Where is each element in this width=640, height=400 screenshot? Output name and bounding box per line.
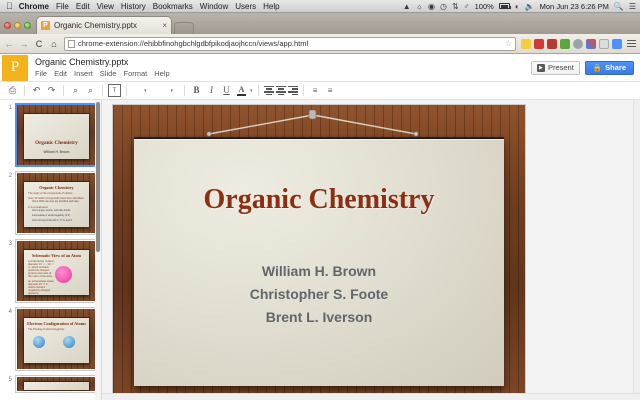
thumb-board: Electron Configuration of Atoms The Paul… [24, 317, 89, 363]
os-menu-window[interactable]: Window [200, 2, 228, 11]
star-icon[interactable]: ☆ [505, 39, 512, 48]
pdf-icon[interactable] [547, 39, 557, 49]
os-menu-app-name[interactable]: Chrome [19, 2, 49, 11]
tab-strip: P Organic Chemistry.pptx × [0, 13, 640, 34]
clock-icon[interactable]: ◷ [440, 2, 447, 11]
share-button[interactable]: 🔒 Share [585, 61, 634, 75]
slide-title[interactable]: Organic Chemistry [113, 184, 525, 216]
numbered-list-icon[interactable]: ≡ [309, 84, 322, 97]
current-slide[interactable]: Organic Chemistry William H. Brown Chris… [113, 105, 525, 400]
thumb-board: Organic Chemistry The study of the compo… [24, 181, 89, 227]
thumb-title-text: Organic Chemistry [24, 185, 89, 190]
bulleted-list-icon[interactable]: ≡ [324, 84, 337, 97]
address-bar-url: chrome-extension://ehibbfinohgbchlgdbfpi… [78, 39, 308, 48]
battery-percent-label: 100% [475, 2, 494, 11]
atom-sphere-icon [63, 336, 75, 348]
browser-nav-bar: ← → C ⌂ chrome-extension://ehibbfinohgbc… [0, 34, 640, 54]
slide-thumbnail-3[interactable]: Schematic View of an Atom a small dense … [15, 239, 98, 303]
os-menu-view[interactable]: View [97, 2, 114, 11]
thumbnail-number: 5 [6, 375, 12, 393]
font-dropdown-caret-icon[interactable]: ▾ [144, 88, 147, 94]
present-button[interactable]: ▶ Present [531, 61, 580, 75]
share-button-label: Share [605, 63, 626, 72]
thumbnail-number: 3 [6, 239, 12, 303]
align-center-icon[interactable] [276, 84, 286, 97]
toolbar-divider [102, 85, 103, 96]
toolbar-divider [63, 85, 64, 96]
atom-pair-diagram [33, 336, 75, 348]
size-dropdown-caret-icon[interactable]: ▾ [171, 88, 174, 94]
window-controls [4, 22, 31, 34]
thumbnail-number: 1 [6, 103, 12, 167]
italic-icon[interactable]: I [205, 84, 218, 97]
bookmark-icon[interactable] [521, 39, 531, 49]
author-line-1: William H. Brown [113, 260, 525, 283]
new-tab-button[interactable] [174, 22, 194, 34]
lock-icon: 🔒 [593, 63, 602, 72]
slides-app: P Organic Chemistry.pptx File Edit Inser… [0, 54, 640, 400]
hamburger-menu-icon[interactable] [627, 40, 636, 48]
forward-button[interactable]: → [19, 39, 29, 49]
author-line-3: Brent L. Iverson [113, 306, 525, 329]
tab-title: Organic Chemistry.pptx [54, 21, 158, 30]
undo-icon[interactable]: ↶ [30, 84, 43, 97]
toolbar-divider [24, 85, 25, 96]
menu-help[interactable]: Help [154, 69, 169, 78]
minimize-window-button[interactable] [14, 22, 21, 29]
home-button[interactable]: ⌂ [49, 39, 59, 49]
thumb-wood-background: Schematic View of an Atom a small dense … [17, 241, 96, 301]
text-box-icon[interactable]: T [108, 84, 121, 97]
app-menu-bar: File Edit Insert Slide Format Help [35, 69, 531, 78]
chat-icon[interactable]: ◉ [428, 2, 435, 11]
browser-tab[interactable]: P Organic Chemistry.pptx × [36, 16, 172, 34]
mail-icon[interactable] [612, 39, 622, 49]
thumb-bullet: The study of the compounds of carbon [28, 192, 89, 195]
thumbnail-row[interactable]: 4 Electron Configuration of Atoms The Pa… [6, 307, 101, 371]
canvas-horizontal-scrollbar[interactable] [102, 393, 640, 400]
toolbar-divider [303, 85, 304, 96]
os-menu-users[interactable]: Users [235, 2, 256, 11]
extension-red-icon[interactable] [534, 39, 544, 49]
reload-button[interactable]: C [34, 39, 44, 49]
toolbar-divider [126, 85, 127, 96]
thumb-board [24, 381, 89, 389]
menu-file[interactable]: File [35, 69, 47, 78]
page-info-icon[interactable] [68, 40, 75, 48]
os-menu-edit[interactable]: Edit [76, 2, 90, 11]
page-title[interactable]: Organic Chemistry.pptx [35, 57, 531, 68]
thumbnail-scrollbar-thumb[interactable] [96, 102, 100, 252]
present-button-label: Present [548, 63, 574, 72]
os-menu-help[interactable]: Help [263, 2, 279, 11]
slide-thumbnail-5[interactable] [15, 375, 98, 393]
thumb-bullet: an extranuclear space, diameter 10⁻¹⁰ m,… [28, 280, 55, 295]
menu-slide[interactable]: Slide [100, 69, 117, 78]
user-icon[interactable]: ♂ [464, 2, 470, 11]
underline-icon[interactable]: U [220, 84, 233, 97]
thumb-bullet: The Pauling of electronegativity [28, 328, 89, 331]
google-icon[interactable] [586, 39, 596, 49]
os-menu-history[interactable]: History [121, 2, 146, 11]
chrome-window: P Organic Chemistry.pptx × ← → C ⌂ chrom… [0, 13, 640, 400]
print-icon[interactable] [573, 39, 583, 49]
download-icon[interactable] [560, 39, 570, 49]
text-color-caret-icon[interactable]: ▾ [250, 88, 253, 94]
thumb-bullet: forms strong bonds with C, H, N, and O [32, 220, 89, 223]
bell-icon[interactable]: ☼ [416, 2, 423, 11]
sync-icon[interactable]: ⇅ [452, 2, 459, 11]
thumb-wood-background: Organic Chemistry William H. Brown Chris… [17, 105, 96, 165]
menu-edit[interactable]: Edit [54, 69, 67, 78]
zoom-out-icon[interactable]: ⌕ [84, 84, 97, 97]
bold-icon[interactable]: B [190, 84, 203, 97]
align-left-icon[interactable] [264, 84, 274, 97]
maximize-window-button[interactable] [24, 22, 31, 29]
os-menu-bar:  Chrome File Edit View History Bookmark… [0, 0, 640, 13]
extension-icons [521, 39, 636, 49]
play-icon: ▶ [537, 64, 545, 72]
slide-thumbnail-1[interactable]: Organic Chemistry William H. Brown Chris… [15, 103, 98, 167]
dropbox-icon[interactable]: ▲ [403, 2, 411, 11]
back-button[interactable]: ← [4, 39, 14, 49]
cast-icon[interactable] [599, 39, 609, 49]
menu-format[interactable]: Format [123, 69, 147, 78]
wifi-icon[interactable]: ◐ [515, 2, 520, 11]
tab-favicon-icon: P [41, 21, 50, 30]
slide-authors[interactable]: William H. Brown Christopher S. Foote Br… [113, 260, 525, 329]
address-bar[interactable]: chrome-extension://ehibbfinohgbchlgdbfpi… [64, 37, 516, 51]
thumbnail-scrollbar-track[interactable] [95, 100, 101, 400]
thumb-title-text: Electron Configuration of Atoms [24, 321, 89, 326]
slide-canvas[interactable]: Organic Chemistry William H. Brown Chris… [102, 100, 640, 400]
text-color-icon[interactable]: A [235, 84, 248, 97]
print-icon[interactable]: ⎙ [6, 84, 19, 97]
doc-header: Organic Chemistry.pptx File Edit Insert … [28, 57, 531, 78]
thumb-bullet: intermediate in electronegativity (2.5) [32, 215, 89, 218]
thumb-wood-background: Organic Chemistry The study of the compo… [17, 173, 96, 233]
os-clock[interactable]: Mon Jun 23 6:26 PM [540, 2, 609, 11]
volume-icon[interactable]: 🔈 [525, 2, 535, 11]
app-logo-icon: P [2, 55, 28, 81]
thumb-board: Organic Chemistry William H. Brown Chris… [24, 113, 89, 159]
zoom-in-icon[interactable]: ⌕ [69, 84, 82, 97]
workspace: 1 Organic Chemistry William H. Brown Chr… [0, 100, 640, 400]
close-window-button[interactable] [4, 22, 11, 29]
battery-icon[interactable] [499, 3, 510, 9]
author-line-2: Christopher S. Foote [113, 283, 525, 306]
slide-thumbnail-4[interactable]: Electron Configuration of Atoms The Paul… [15, 307, 98, 371]
slide-thumbnail-2[interactable]: Organic Chemistry The study of the compo… [15, 171, 98, 235]
thumb-wood-background: Electron Configuration of Atoms The Paul… [17, 309, 96, 369]
atom-sphere-icon [33, 336, 45, 348]
header-actions: ▶ Present 🔒 Share [531, 61, 640, 75]
formatting-toolbar: ⎙ ↶ ↷ ⌕ ⌕ T ▾ ▾ B I U A ▾ ≡ ≡ [0, 82, 640, 100]
tab-close-icon[interactable]: × [162, 21, 167, 30]
apple-logo-icon[interactable]:  [6, 2, 13, 11]
menu-insert[interactable]: Insert [74, 69, 93, 78]
thumb-bullet: forms single, double, and triple bonds [32, 210, 89, 213]
align-right-icon[interactable] [288, 84, 298, 97]
thumb-title-text: Organic Chemistry [24, 140, 89, 146]
os-menu-file[interactable]: File [56, 2, 69, 11]
thumbnail-row[interactable]: 1 Organic Chemistry William H. Brown Chr… [6, 103, 101, 167]
toolbar-divider [184, 85, 185, 96]
thumb-bullet: About 1000 new ones are identified each … [32, 201, 89, 204]
redo-icon[interactable]: ↷ [45, 84, 58, 97]
thumb-bullet: C is a small atom [28, 206, 89, 209]
thumbnail-number: 4 [6, 307, 12, 371]
atom-circle-icon [55, 266, 72, 283]
thumb-title-text: Schematic View of an Atom [24, 253, 89, 258]
os-menu-bookmarks[interactable]: Bookmarks [153, 2, 193, 11]
slide-thumbnail-panel[interactable]: 1 Organic Chemistry William H. Brown Chr… [0, 100, 102, 400]
thumbnail-row[interactable]: 3 Schematic View of an Atom a small dens… [6, 239, 101, 303]
toolbar-divider [258, 85, 259, 96]
thumb-board: Schematic View of an Atom a small dense … [24, 249, 89, 295]
thumb-wood-background [17, 377, 96, 391]
search-icon[interactable]: 🔍 [614, 2, 624, 11]
thumbnail-row[interactable]: 2 Organic Chemistry The study of the com… [6, 171, 101, 235]
canvas-vertical-scrollbar[interactable] [633, 100, 640, 400]
list-icon[interactable]: ☰ [629, 2, 636, 11]
thumbnail-number: 2 [6, 171, 12, 235]
thumbnail-row[interactable]: 5 [6, 375, 101, 393]
app-header: P Organic Chemistry.pptx File Edit Inser… [0, 54, 640, 82]
thumb-author-1: William H. Brown [24, 150, 89, 155]
thumb-bullet: Over 10 million compounds have been iden… [28, 197, 89, 200]
thumb-bullet: a small dense nucleus, diameter 10⁻¹⁵ - … [28, 260, 55, 278]
